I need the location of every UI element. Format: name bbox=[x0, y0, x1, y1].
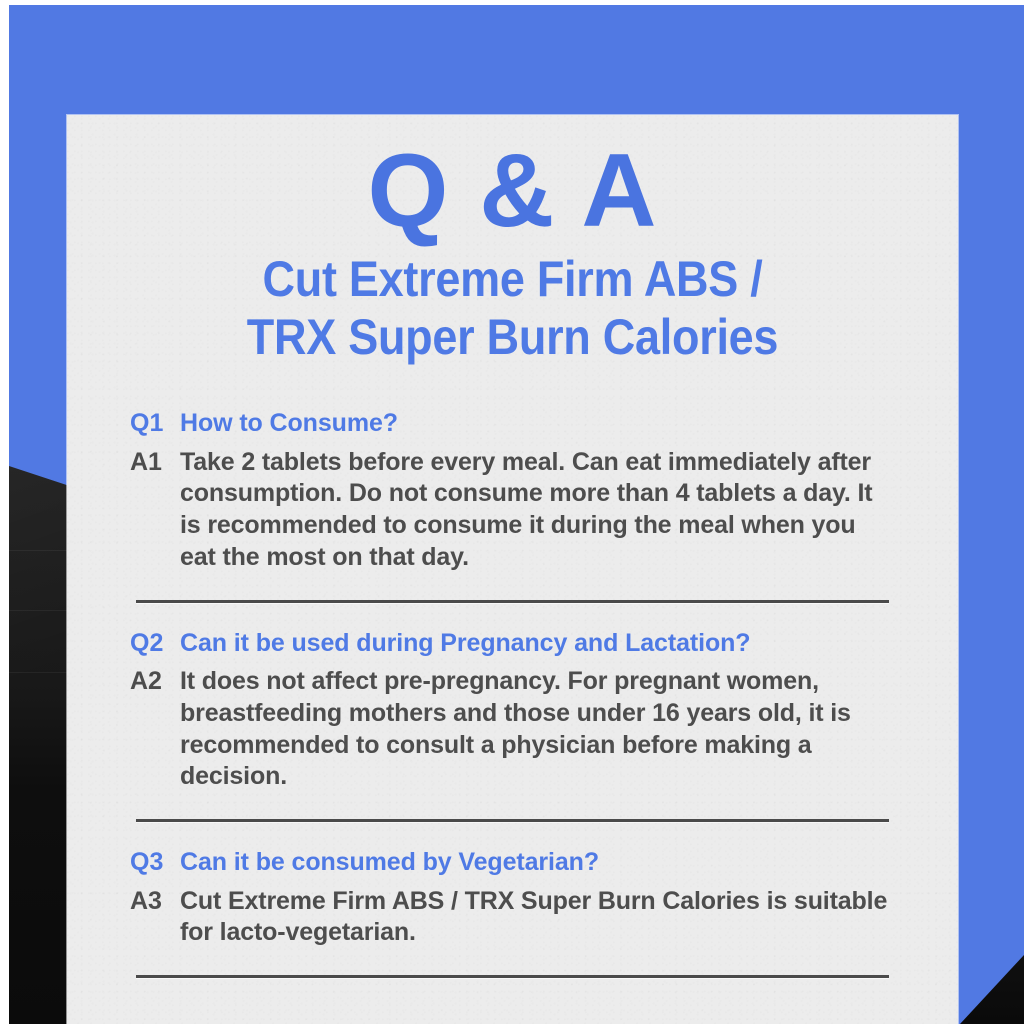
product-title-line-2: TRX Super Burn Calories bbox=[168, 308, 857, 366]
question-text: How to Consume? bbox=[180, 408, 398, 440]
answer-tag: A1 bbox=[130, 447, 180, 479]
question-tag: Q1 bbox=[130, 408, 180, 440]
question-text: Can it be used during Pregnancy and Lact… bbox=[180, 628, 750, 660]
faq-question-row: Q1 How to Consume? bbox=[130, 408, 895, 440]
answer-text: Cut Extreme Firm ABS / TRX Super Burn Ca… bbox=[180, 886, 892, 950]
spacer bbox=[130, 603, 895, 628]
answer-text: Take 2 tablets before every meal. Can ea… bbox=[180, 447, 892, 574]
faq-question-row: Q2 Can it be used during Pregnancy and L… bbox=[130, 628, 895, 660]
faq-item: Q1 How to Consume? A1 Take 2 tablets bef… bbox=[130, 408, 895, 628]
faq-item: Q2 Can it be used during Pregnancy and L… bbox=[130, 628, 895, 848]
faq-answer-row: A1 Take 2 tablets before every meal. Can… bbox=[130, 447, 895, 574]
answer-tag: A3 bbox=[130, 886, 180, 918]
page-title: Q & A bbox=[130, 115, 895, 244]
qa-card: Q & A Cut Extreme Firm ABS / TRX Super B… bbox=[67, 115, 958, 1024]
poster-stage: Q & A Cut Extreme Firm ABS / TRX Super B… bbox=[0, 0, 1024, 1024]
faq-answer-row: A3 Cut Extreme Firm ABS / TRX Super Burn… bbox=[130, 886, 895, 950]
section-divider bbox=[136, 975, 889, 978]
question-tag: Q3 bbox=[130, 847, 180, 879]
faq-answer-row: A2 It does not affect pre-pregnancy. For… bbox=[130, 666, 895, 793]
product-title-line-1: Cut Extreme Firm ABS / bbox=[168, 250, 857, 308]
spacer bbox=[130, 822, 895, 847]
faq-question-row: Q3 Can it be consumed by Vegetarian? bbox=[130, 847, 895, 879]
answer-tag: A2 bbox=[130, 666, 180, 698]
product-title: Cut Extreme Firm ABS / TRX Super Burn Ca… bbox=[168, 250, 857, 366]
answer-text: It does not affect pre-pregnancy. For pr… bbox=[180, 666, 892, 793]
faq-list: Q1 How to Consume? A1 Take 2 tablets bef… bbox=[130, 408, 895, 978]
faq-item: Q3 Can it be consumed by Vegetarian? A3 … bbox=[130, 847, 895, 978]
question-tag: Q2 bbox=[130, 628, 180, 660]
question-text: Can it be consumed by Vegetarian? bbox=[180, 847, 599, 879]
